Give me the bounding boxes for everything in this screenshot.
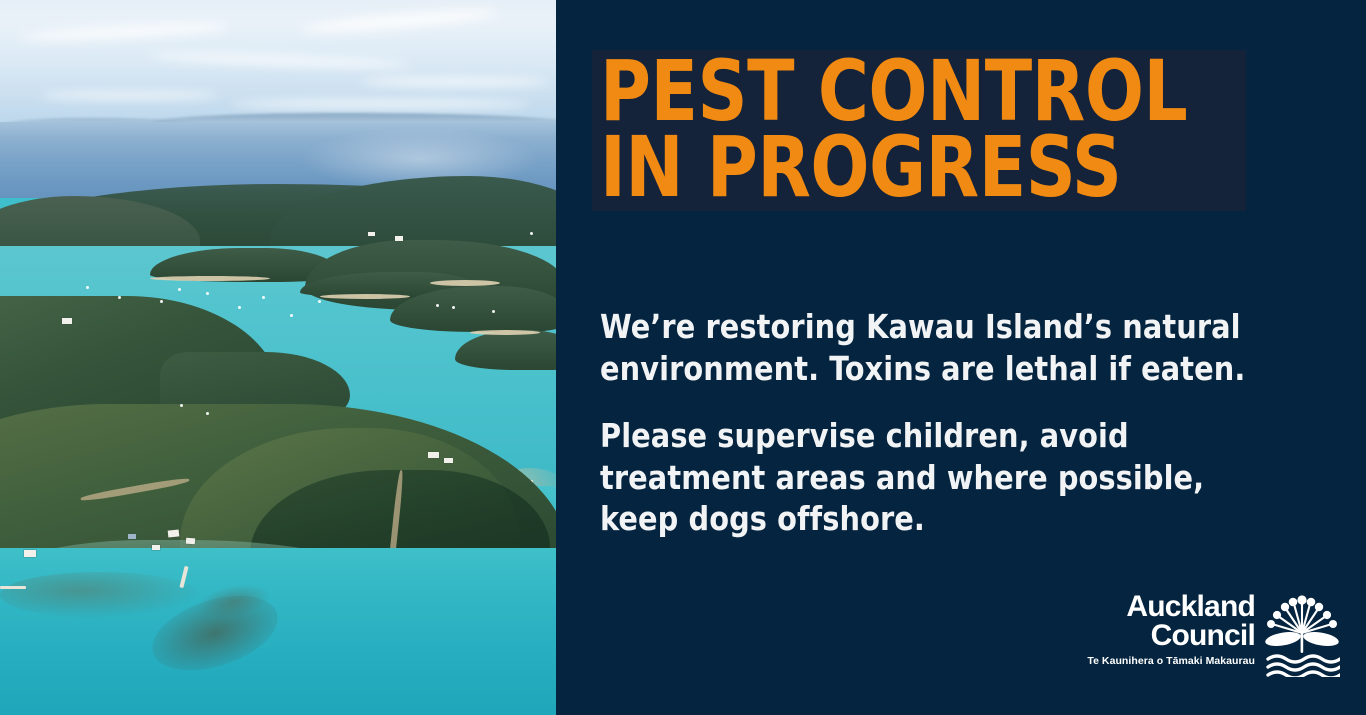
house [444,458,453,463]
house [24,550,36,557]
page-title: PEST CONTROL IN PROGRESS [600,54,1187,205]
house [168,529,180,537]
submerged-shelf [0,572,200,618]
auckland-council-logo: Auckland Council Te Kaunihera o Tāmaki M… [1087,591,1340,677]
moored-boat [86,286,89,289]
building [395,236,403,241]
moored-boat [238,306,241,309]
logo-tagline: Te Kaunihera o Tāmaki Makaurau [1087,656,1255,667]
moored-boat [436,304,439,307]
house [428,452,439,458]
beach [470,330,540,335]
moored-boat [118,296,121,299]
house [128,534,136,539]
moored-boat [452,306,455,309]
moored-boat [180,404,183,407]
logo-line-auckland: Auckland [1087,593,1255,622]
moored-boat [178,288,181,291]
moored-boat [160,300,163,303]
house [186,538,195,545]
moored-boat [206,412,209,415]
moored-boat [492,310,495,313]
beach [430,280,500,286]
cloud [40,92,220,99]
beach [320,294,410,299]
moored-boat [262,296,265,299]
body-copy: We’re restoring Kawau Island’s natural e… [600,306,1300,540]
aerial-photo-panel [0,0,556,715]
pohutukawa-flower-and-waves-icon [1264,591,1340,677]
building [62,318,72,324]
paragraph-safety: Please supervise children, avoid treatme… [600,415,1279,540]
message-panel: PEST CONTROL IN PROGRESS We’re restoring… [556,0,1366,715]
pest-control-poster: PEST CONTROL IN PROGRESS We’re restoring… [0,0,1366,715]
moored-boat [530,232,533,235]
paragraph-restoration: We’re restoring Kawau Island’s natural e… [600,306,1279,389]
headline-block: PEST CONTROL IN PROGRESS [592,50,1246,211]
moored-boat [318,300,321,303]
logo-wordmark: Auckland Council Te Kaunihera o Tāmaki M… [1087,591,1255,666]
beach [150,276,270,281]
building [368,232,375,236]
moored-boat [290,314,293,317]
cloud [230,100,530,108]
jetty [0,586,26,589]
logo-line-council: Council [1087,622,1255,651]
house [152,545,160,550]
cloud [360,78,550,86]
moored-boat [206,292,209,295]
